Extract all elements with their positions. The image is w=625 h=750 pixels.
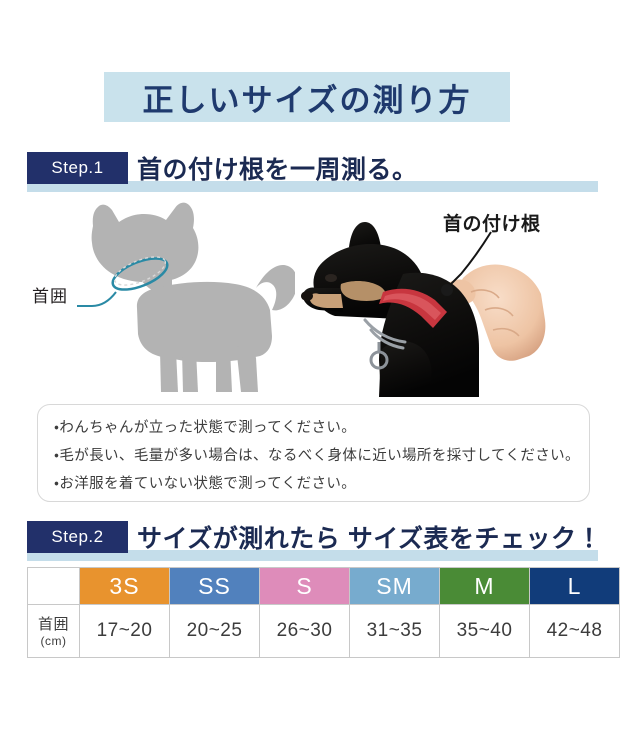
size-value-ss: 20~25 xyxy=(170,605,260,658)
row-label-text: 首囲 xyxy=(38,616,69,633)
size-header-m: M xyxy=(440,568,530,605)
page-title: 正しいサイズの測り方 xyxy=(104,72,510,122)
size-chart-value-row: 首囲 (cm) 17~20 20~25 26~30 31~35 35~40 42… xyxy=(28,605,620,658)
row-label-neck-circumference: 首囲 (cm) xyxy=(28,605,80,658)
size-header-l: L xyxy=(530,568,620,605)
measuring-notes-box: ・わんちゃんが立った状態で測ってください。 ・毛が長い、毛量が多い場合は、なるべ… xyxy=(37,404,590,502)
size-value-l: 42~48 xyxy=(530,605,620,658)
step2-badge: Step.2 xyxy=(27,521,128,553)
size-header-ss: SS xyxy=(170,568,260,605)
row-label-unit: (cm) xyxy=(29,635,78,649)
step1-heading: 首の付け根を一周測る。 xyxy=(137,150,418,186)
size-value-sm: 31~35 xyxy=(350,605,440,658)
neck-measure-leader-line xyxy=(77,292,116,306)
note-item: ・毛が長い、毛量が多い場合は、なるべく身体に近い場所を採寸してください。 xyxy=(54,442,573,470)
step1-header: Step.1 首の付け根を一周測る。 xyxy=(27,152,598,192)
size-header-3s: 3S xyxy=(80,568,170,605)
dog-silhouette-illustration xyxy=(30,196,330,401)
note-item: ・お洋服を着ていない状態で測ってください。 xyxy=(54,470,573,498)
size-header-sm: SM xyxy=(350,568,440,605)
photo-callout-point xyxy=(441,284,453,296)
step1-badge: Step.1 xyxy=(27,152,128,184)
size-chart-header-row: 3S SS S SM M L xyxy=(28,568,620,605)
size-value-s: 26~30 xyxy=(260,605,350,658)
note-item: ・わんちゃんが立った状態で測ってください。 xyxy=(54,414,573,442)
size-value-m: 35~40 xyxy=(440,605,530,658)
neck-circumference-label: 首囲 xyxy=(32,282,68,307)
neck-base-callout-label: 首の付け根 xyxy=(443,209,541,236)
step2-header: Step.2 サイズが測れたら サイズ表をチェック！ xyxy=(27,521,598,561)
size-value-3s: 17~20 xyxy=(80,605,170,658)
dog-body-shape xyxy=(92,203,298,392)
step2-heading: サイズが測れたら サイズ表をチェック！ xyxy=(137,519,602,555)
size-chart-table: 3S SS S SM M L 首囲 (cm) 17~20 20~25 26~30… xyxy=(27,567,620,658)
size-header-s: S xyxy=(260,568,350,605)
table-corner-cell xyxy=(28,568,80,605)
